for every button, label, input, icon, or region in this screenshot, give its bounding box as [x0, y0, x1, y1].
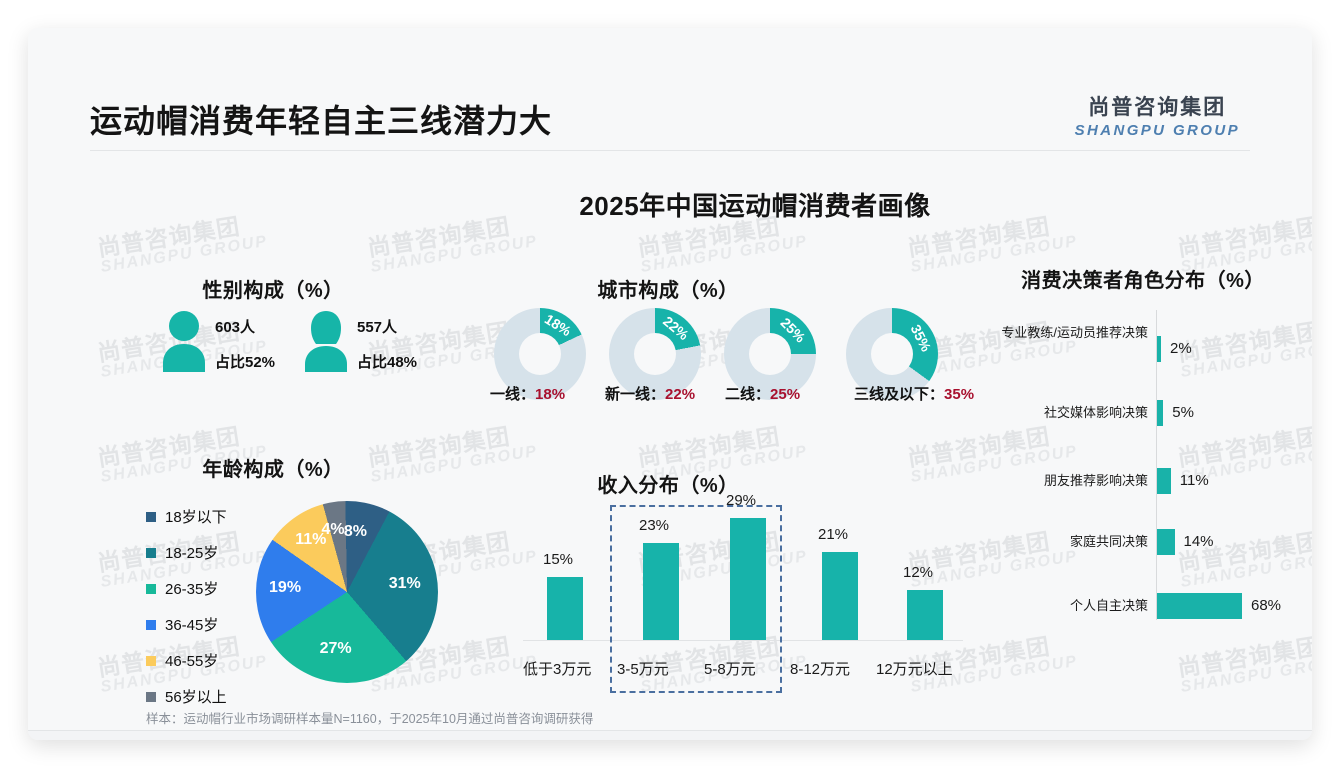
main-chart-title: 2025年中国运动帽消费者画像 [28, 186, 1312, 223]
decision-bar[interactable] [1157, 400, 1163, 426]
income-category-label: 低于3万元 [523, 658, 591, 679]
city-label: 三线及以下：35% [854, 383, 974, 404]
female-icon [300, 310, 352, 372]
city-pct: 25% [770, 386, 800, 403]
decision-value-label: 2% [1170, 340, 1192, 357]
donut-hole [871, 333, 913, 375]
pie-slice-label: 31% [389, 575, 421, 593]
decision-category-label: 社交媒体影响决策 [996, 404, 1148, 423]
income-bar[interactable] [643, 543, 679, 640]
donut-hole [749, 333, 791, 375]
income-value-label: 15% [543, 551, 573, 568]
legend-swatch [146, 584, 156, 594]
donut-hole [634, 333, 676, 375]
infographic-page: 尚普咨询集团SHANGPU GROUP尚普咨询集团SHANGPU GROUP尚普… [28, 28, 1312, 740]
legend-label: 46-55岁 [165, 650, 218, 671]
gender-share: 占比48% [357, 351, 417, 372]
income-bar[interactable] [907, 590, 943, 640]
city-label: 新一线：22% [605, 383, 695, 404]
legend-label: 36-45岁 [165, 614, 218, 635]
decision-category-label: 个人自主决策 [996, 597, 1148, 616]
decision-category-label: 朋友推荐影响决策 [996, 472, 1148, 491]
legend-label: 18-25岁 [165, 542, 218, 563]
age-legend-item[interactable]: 18-25岁 [146, 542, 227, 563]
decision-bar[interactable] [1157, 468, 1171, 494]
male-icon [158, 310, 210, 372]
city-name: 二线： [725, 386, 770, 403]
section-title-income: 收入分布（%） [518, 469, 818, 498]
main-chart-title-text: 2025年中国运动帽消费者画像 [409, 191, 930, 221]
decision-value-label: 5% [1172, 404, 1194, 421]
pie-slice-label: 8% [344, 523, 367, 541]
legend-label: 26-35岁 [165, 578, 218, 599]
page-title: 运动帽消费年轻自主三线潜力大 [90, 96, 552, 142]
legend-swatch [146, 512, 156, 522]
income-value-label: 21% [818, 526, 848, 543]
city-pct: 22% [665, 386, 695, 403]
age-legend-item[interactable]: 46-55岁 [146, 650, 227, 671]
header-divider [90, 150, 1250, 151]
footer-bar [28, 730, 1312, 740]
age-legend-item[interactable]: 26-35岁 [146, 578, 227, 599]
income-value-label: 23% [639, 517, 669, 534]
decision-category-label: 专业教练/运动员推荐决策 [996, 324, 1148, 343]
legend-swatch [146, 548, 156, 558]
income-value-label: 29% [726, 492, 756, 509]
income-value-label: 12% [903, 564, 933, 581]
income-category-label: 5-8万元 [704, 658, 756, 679]
city-label: 二线：25% [725, 383, 800, 404]
city-name: 新一线： [605, 386, 665, 403]
age-legend: 18岁以下18-25岁26-35岁36-45岁46-55岁56岁以上 [146, 506, 227, 722]
brand-logo: 尚普咨询集团 SHANGPU GROUP [1075, 91, 1240, 139]
section-title-decision: 消费决策者角色分布（%） [988, 264, 1298, 293]
income-category-label: 3-5万元 [617, 658, 669, 679]
decision-bar[interactable] [1157, 529, 1175, 555]
age-legend-item[interactable]: 56岁以上 [146, 686, 227, 707]
legend-label: 56岁以上 [165, 686, 227, 707]
gender-count: 557人 [357, 316, 397, 337]
income-category-label: 12万元以上 [876, 658, 953, 679]
income-bar[interactable] [547, 577, 583, 640]
legend-label: 18岁以下 [165, 506, 227, 527]
age-legend-item[interactable]: 18岁以下 [146, 506, 227, 527]
pie-slice-label: 27% [320, 640, 352, 658]
decision-value-label: 14% [1184, 533, 1214, 550]
pie-slice-label: 19% [269, 579, 301, 597]
legend-swatch [146, 692, 156, 702]
city-pct: 35% [944, 386, 974, 403]
sample-note: 样本：运动帽行业市场调研样本量N=1160，于2025年10月通过尚普咨询调研获… [146, 708, 593, 727]
gender-count: 603人 [215, 316, 255, 337]
gender-share: 占比52% [215, 351, 275, 372]
age-legend-item[interactable]: 36-45岁 [146, 614, 227, 635]
city-pct: 18% [535, 386, 565, 403]
income-category-label: 8-12万元 [790, 658, 850, 679]
decision-category-label: 家庭共同决策 [996, 533, 1148, 552]
legend-swatch [146, 656, 156, 666]
city-name: 一线： [490, 386, 535, 403]
income-bar[interactable] [822, 552, 858, 640]
legend-swatch [146, 620, 156, 630]
city-label: 一线：18% [490, 383, 565, 404]
decision-value-label: 68% [1251, 597, 1281, 614]
decision-bar[interactable] [1157, 336, 1161, 362]
section-title-age: 年龄构成（%） [123, 453, 423, 482]
logo-text-en: SHANGPU GROUP [1075, 122, 1240, 139]
section-title-city: 城市构成（%） [518, 274, 818, 303]
donut-hole [519, 333, 561, 375]
decision-bar[interactable] [1157, 593, 1242, 619]
pie-slice-label: 4% [321, 521, 344, 539]
income-bar[interactable] [730, 518, 766, 640]
decision-value-label: 11% [1180, 472, 1209, 489]
logo-text-cn: 尚普咨询集团 [1075, 91, 1240, 121]
city-name: 三线及以下： [854, 386, 944, 403]
section-title-gender: 性别构成（%） [123, 274, 423, 303]
